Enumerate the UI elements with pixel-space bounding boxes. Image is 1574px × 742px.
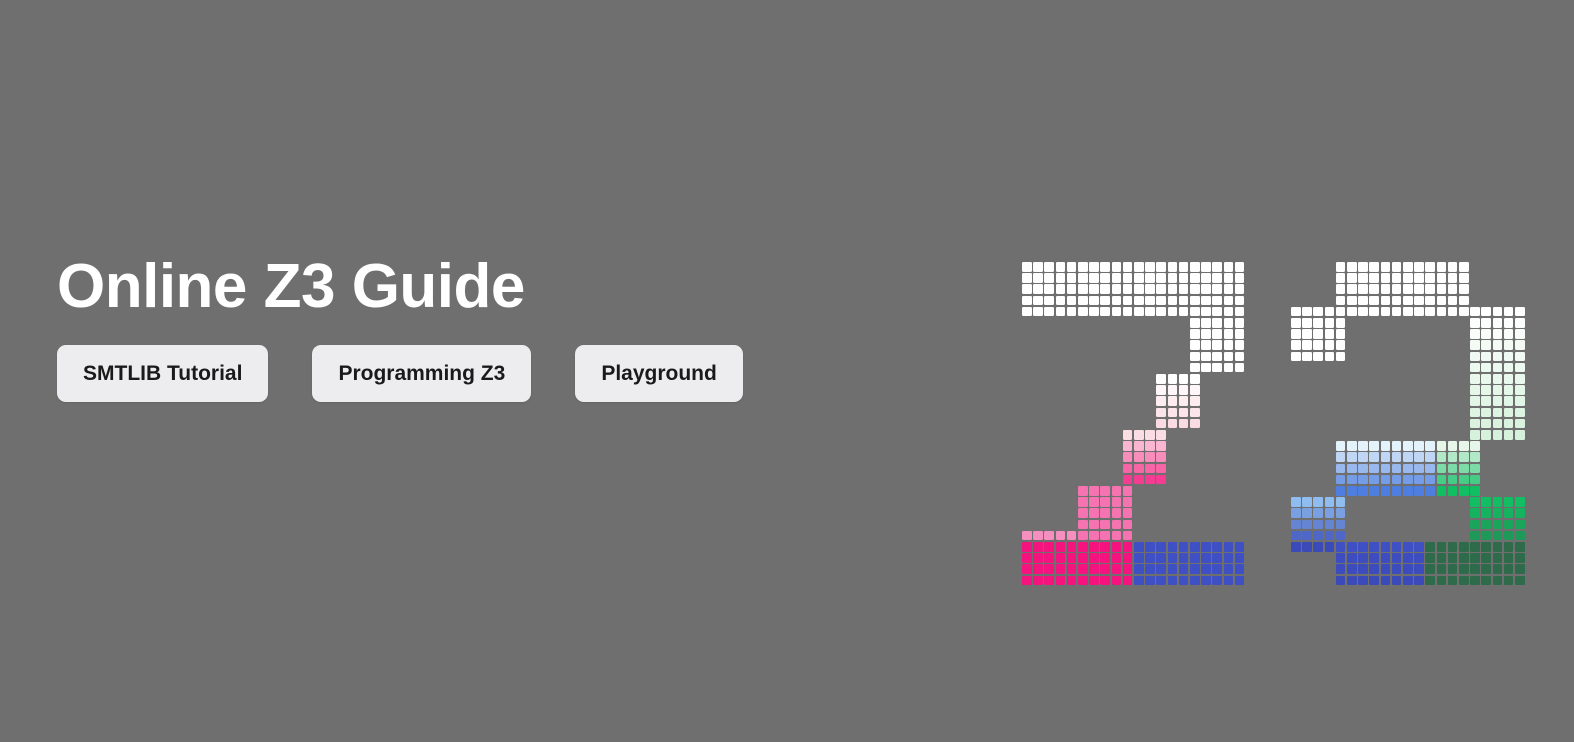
logo-pixel (1067, 307, 1077, 317)
logo-pixel (1481, 340, 1491, 350)
logo-pixel (1481, 542, 1491, 552)
logo-pixel (1201, 284, 1211, 294)
logo-pixel (1504, 542, 1514, 552)
logo-pixel (1201, 318, 1211, 328)
logo-pixel (1168, 307, 1178, 317)
logo-pixel (1089, 542, 1099, 552)
logo-pixel (1470, 452, 1480, 462)
logo-pixel (1056, 553, 1066, 563)
logo-pixel (1078, 497, 1088, 507)
logo-pixel (1022, 576, 1032, 586)
logo-pixel (1224, 262, 1234, 272)
logo-pixel (1470, 531, 1480, 541)
logo-pixel (1067, 262, 1077, 272)
programming-z3-button[interactable]: Programming Z3 (312, 345, 531, 402)
logo-pixel (1425, 296, 1435, 306)
logo-pixel (1145, 475, 1155, 485)
logo-pixel (1403, 475, 1413, 485)
logo-pixel (1033, 307, 1043, 317)
logo-pixel (1381, 441, 1391, 451)
logo-pixel (1212, 352, 1222, 362)
logo-pixel (1325, 497, 1335, 507)
logo-pixel (1190, 329, 1200, 339)
logo-pixel (1044, 262, 1054, 272)
smtlib-tutorial-button[interactable]: SMTLIB Tutorial (57, 345, 268, 402)
logo-pixel (1515, 430, 1525, 440)
logo-pixel (1089, 520, 1099, 530)
logo-pixel (1078, 520, 1088, 530)
logo-pixel (1123, 542, 1133, 552)
logo-pixel (1504, 520, 1514, 530)
logo-pixel (1392, 307, 1402, 317)
logo-pixel (1470, 363, 1480, 373)
logo-pixel (1190, 419, 1200, 429)
logo-pixel (1392, 273, 1402, 283)
logo-pixel (1470, 576, 1480, 586)
logo-pixel (1437, 542, 1447, 552)
logo-pixel (1414, 273, 1424, 283)
logo-pixel (1313, 329, 1323, 339)
logo-pixel (1493, 396, 1503, 406)
logo-pixel (1414, 284, 1424, 294)
logo-pixel (1134, 441, 1144, 451)
logo-pixel (1190, 576, 1200, 586)
logo-pixel (1313, 508, 1323, 518)
logo-pixel (1112, 284, 1122, 294)
logo-pixel (1100, 531, 1110, 541)
logo-pixel (1190, 340, 1200, 350)
logo-pixel (1481, 363, 1491, 373)
logo-pixel (1403, 262, 1413, 272)
logo-pixel (1515, 520, 1525, 530)
logo-pixel (1134, 475, 1144, 485)
logo-pixel (1358, 296, 1368, 306)
logo-pixel (1179, 576, 1189, 586)
logo-pixel (1179, 419, 1189, 429)
logo-pixel (1089, 497, 1099, 507)
logo-pixel (1347, 553, 1357, 563)
logo-pixel (1425, 284, 1435, 294)
logo-pixel (1470, 340, 1480, 350)
logo-pixel (1504, 396, 1514, 406)
logo-pixel (1201, 553, 1211, 563)
logo-pixel (1123, 307, 1133, 317)
logo-pixel (1291, 329, 1301, 339)
logo-pixel (1089, 564, 1099, 574)
logo-pixel (1459, 486, 1469, 496)
logo-pixel (1493, 564, 1503, 574)
logo-pixel (1504, 329, 1514, 339)
logo-pixel (1392, 296, 1402, 306)
logo-pixel (1336, 576, 1346, 586)
logo-pixel (1515, 352, 1525, 362)
logo-pixel (1448, 273, 1458, 283)
logo-pixel (1123, 262, 1133, 272)
logo-pixel (1201, 273, 1211, 283)
logo-pixel (1179, 408, 1189, 418)
logo-pixel (1089, 262, 1099, 272)
logo-pixel (1369, 542, 1379, 552)
logo-pixel (1459, 284, 1469, 294)
logo-pixel (1369, 486, 1379, 496)
logo-pixel (1425, 486, 1435, 496)
logo-pixel (1403, 441, 1413, 451)
logo-pixel (1168, 564, 1178, 574)
logo-pixel (1336, 273, 1346, 283)
logo-pixel (1145, 284, 1155, 294)
logo-pixel (1448, 284, 1458, 294)
logo-pixel (1470, 475, 1480, 485)
logo-pixel (1156, 430, 1166, 440)
logo-pixel (1291, 352, 1301, 362)
logo-pixel (1470, 419, 1480, 429)
logo-pixel (1369, 553, 1379, 563)
logo-pixel (1302, 329, 1312, 339)
logo-pixel (1313, 307, 1323, 317)
logo-pixel (1056, 576, 1066, 586)
logo-pixel (1100, 576, 1110, 586)
logo-pixel (1448, 452, 1458, 462)
logo-pixel (1437, 284, 1447, 294)
logo-pixel (1100, 273, 1110, 283)
logo-pixel (1493, 508, 1503, 518)
logo-pixel (1437, 262, 1447, 272)
logo-pixel (1425, 307, 1435, 317)
logo-pixel (1022, 564, 1032, 574)
logo-pixel (1078, 307, 1088, 317)
logo-pixel (1056, 262, 1066, 272)
logo-pixel (1414, 441, 1424, 451)
logo-pixel (1470, 396, 1480, 406)
logo-pixel (1504, 352, 1514, 362)
logo-pixel (1515, 408, 1525, 418)
logo-pixel (1044, 576, 1054, 586)
logo-pixel (1179, 284, 1189, 294)
logo-pixel (1369, 273, 1379, 283)
logo-pixel (1515, 363, 1525, 373)
logo-pixel (1190, 553, 1200, 563)
logo-pixel (1112, 508, 1122, 518)
logo-pixel (1403, 296, 1413, 306)
logo-pixel (1291, 542, 1301, 552)
logo-pixel (1201, 542, 1211, 552)
logo-pixel (1067, 531, 1077, 541)
logo-pixel (1481, 307, 1491, 317)
logo-pixel (1134, 307, 1144, 317)
logo-pixel (1156, 441, 1166, 451)
logo-pixel (1515, 374, 1525, 384)
logo-pixel (1515, 553, 1525, 563)
logo-pixel (1493, 318, 1503, 328)
logo-pixel (1325, 340, 1335, 350)
logo-pixel (1313, 542, 1323, 552)
logo-pixel (1358, 553, 1368, 563)
logo-pixel (1145, 576, 1155, 586)
logo-pixel (1336, 464, 1346, 474)
logo-pixel (1044, 307, 1054, 317)
logo-pixel (1403, 464, 1413, 474)
logo-pixel (1425, 273, 1435, 283)
logo-pixel (1179, 385, 1189, 395)
logo-pixel (1291, 497, 1301, 507)
logo-pixel (1481, 419, 1491, 429)
logo-pixel (1179, 307, 1189, 317)
logo-pixel (1067, 553, 1077, 563)
logo-pixel (1369, 284, 1379, 294)
logo-pixel (1190, 273, 1200, 283)
logo-pixel (1437, 273, 1447, 283)
logo-pixel (1235, 318, 1245, 328)
logo-pixel (1369, 475, 1379, 485)
logo-pixel (1056, 531, 1066, 541)
logo-pixel (1224, 273, 1234, 283)
logo-pixel (1033, 531, 1043, 541)
logo-pixel (1123, 553, 1133, 563)
logo-pixel (1291, 508, 1301, 518)
logo-pixel (1493, 419, 1503, 429)
logo-pixel (1504, 363, 1514, 373)
logo-pixel (1336, 475, 1346, 485)
logo-pixel (1347, 475, 1357, 485)
nav-button-row: SMTLIB Tutorial Programming Z3 Playgroun… (57, 345, 957, 402)
logo-pixel (1470, 318, 1480, 328)
logo-pixel (1100, 553, 1110, 563)
logo-pixel (1336, 441, 1346, 451)
logo-pixel (1336, 520, 1346, 530)
logo-pixel (1168, 296, 1178, 306)
logo-pixel (1403, 553, 1413, 563)
logo-pixel (1515, 531, 1525, 541)
logo-pixel (1504, 408, 1514, 418)
logo-pixel (1168, 374, 1178, 384)
logo-pixel (1470, 441, 1480, 451)
logo-pixel (1437, 564, 1447, 574)
logo-pixel (1190, 385, 1200, 395)
logo-pixel (1089, 553, 1099, 563)
logo-pixel (1481, 374, 1491, 384)
logo-pixel (1381, 452, 1391, 462)
logo-pixel (1190, 318, 1200, 328)
logo-pixel (1459, 464, 1469, 474)
logo-pixel (1123, 531, 1133, 541)
logo-pixel (1201, 576, 1211, 586)
logo-pixel (1481, 396, 1491, 406)
logo-pixel (1369, 262, 1379, 272)
logo-pixel (1212, 318, 1222, 328)
logo-pixel (1067, 564, 1077, 574)
logo-pixel (1481, 520, 1491, 530)
logo-pixel (1156, 374, 1166, 384)
logo-pixel (1392, 284, 1402, 294)
logo-pixel (1347, 284, 1357, 294)
logo-pixel (1481, 352, 1491, 362)
logo-pixel (1504, 340, 1514, 350)
logo-pixel (1067, 284, 1077, 294)
logo-pixel (1044, 542, 1054, 552)
logo-pixel (1156, 284, 1166, 294)
logo-pixel (1291, 340, 1301, 350)
logo-pixel (1336, 307, 1346, 317)
logo-pixel (1179, 273, 1189, 283)
logo-pixel (1325, 508, 1335, 518)
logo-pixel (1425, 464, 1435, 474)
logo-pixel (1089, 296, 1099, 306)
logo-pixel (1381, 542, 1391, 552)
logo-pixel (1515, 318, 1525, 328)
logo-pixel (1112, 531, 1122, 541)
logo-pixel (1347, 486, 1357, 496)
logo-pixel (1145, 441, 1155, 451)
logo-pixel (1313, 318, 1323, 328)
logo-pixel (1112, 520, 1122, 530)
logo-pixel (1022, 553, 1032, 563)
logo-pixel (1515, 329, 1525, 339)
logo-pixel (1313, 520, 1323, 530)
logo-pixel (1459, 307, 1469, 317)
logo-pixel (1089, 508, 1099, 518)
logo-pixel (1313, 352, 1323, 362)
logo-pixel (1201, 352, 1211, 362)
logo-pixel (1235, 576, 1245, 586)
logo-pixel (1448, 262, 1458, 272)
logo-pixel (1123, 564, 1133, 574)
logo-pixel (1235, 273, 1245, 283)
logo-pixel (1033, 273, 1043, 283)
logo-pixel (1369, 296, 1379, 306)
logo-pixel (1190, 363, 1200, 373)
logo-pixel (1224, 542, 1234, 552)
logo-pixel (1336, 508, 1346, 518)
logo-pixel (1123, 441, 1133, 451)
logo-pixel (1493, 497, 1503, 507)
logo-pixel (1156, 273, 1166, 283)
logo-pixel (1336, 553, 1346, 563)
page-title: Online Z3 Guide (57, 256, 957, 318)
logo-pixel (1358, 307, 1368, 317)
logo-pixel (1033, 564, 1043, 574)
logo-pixel (1112, 542, 1122, 552)
logo-pixel (1381, 486, 1391, 496)
logo-pixel (1235, 352, 1245, 362)
logo-pixel (1392, 564, 1402, 574)
logo-pixel (1078, 553, 1088, 563)
logo-pixel (1381, 553, 1391, 563)
logo-pixel (1481, 564, 1491, 574)
logo-pixel (1100, 508, 1110, 518)
logo-pixel (1156, 385, 1166, 395)
logo-pixel (1212, 576, 1222, 586)
logo-pixel (1369, 576, 1379, 586)
logo-pixel (1504, 576, 1514, 586)
logo-pixel (1392, 441, 1402, 451)
logo-pixel (1156, 419, 1166, 429)
logo-pixel (1504, 564, 1514, 574)
logo-pixel (1302, 318, 1312, 328)
logo-pixel (1336, 329, 1346, 339)
logo-pixel (1381, 564, 1391, 574)
logo-pixel (1100, 564, 1110, 574)
logo-pixel (1145, 296, 1155, 306)
logo-pixel (1145, 430, 1155, 440)
logo-pixel (1403, 284, 1413, 294)
logo-pixel (1190, 542, 1200, 552)
logo-pixel (1470, 564, 1480, 574)
logo-pixel (1235, 296, 1245, 306)
logo-pixel (1470, 385, 1480, 395)
logo-pixel (1156, 542, 1166, 552)
logo-pixel (1347, 307, 1357, 317)
logo-pixel (1358, 441, 1368, 451)
logo-pixel (1033, 542, 1043, 552)
logo-pixel (1336, 564, 1346, 574)
logo-pixel (1369, 452, 1379, 462)
logo-pixel (1179, 396, 1189, 406)
logo-pixel (1403, 486, 1413, 496)
logo-pixel (1156, 396, 1166, 406)
logo-pixel (1123, 430, 1133, 440)
logo-pixel (1235, 340, 1245, 350)
logo-pixel (1515, 497, 1525, 507)
logo-pixel (1156, 262, 1166, 272)
logo-pixel (1448, 441, 1458, 451)
logo-pixel (1056, 284, 1066, 294)
logo-pixel (1212, 553, 1222, 563)
logo-pixel (1437, 296, 1447, 306)
logo-pixel (1145, 542, 1155, 552)
logo-pixel (1358, 576, 1368, 586)
logo-pixel (1156, 553, 1166, 563)
logo-pixel (1403, 307, 1413, 317)
logo-pixel (1504, 318, 1514, 328)
logo-pixel (1437, 464, 1447, 474)
logo-pixel (1168, 542, 1178, 552)
logo-pixel (1134, 262, 1144, 272)
logo-pixel (1470, 408, 1480, 418)
logo-pixel (1112, 576, 1122, 586)
logo-pixel (1358, 564, 1368, 574)
hero-section: Online Z3 Guide SMTLIB Tutorial Programm… (57, 256, 957, 402)
logo-pixel (1078, 296, 1088, 306)
logo-pixel (1235, 553, 1245, 563)
logo-pixel (1134, 296, 1144, 306)
logo-pixel (1481, 430, 1491, 440)
logo-pixel (1201, 329, 1211, 339)
logo-pixel (1179, 262, 1189, 272)
logo-pixel (1325, 318, 1335, 328)
logo-pixel (1100, 520, 1110, 530)
logo-pixel (1347, 542, 1357, 552)
playground-button[interactable]: Playground (575, 345, 743, 402)
logo-pixel (1067, 576, 1077, 586)
logo-pixel (1156, 464, 1166, 474)
logo-pixel (1033, 576, 1043, 586)
logo-pixel (1179, 553, 1189, 563)
logo-pixel (1414, 296, 1424, 306)
logo-pixel (1168, 284, 1178, 294)
logo-pixel (1515, 542, 1525, 552)
logo-pixel (1414, 452, 1424, 462)
logo-pixel (1156, 307, 1166, 317)
logo-pixel (1448, 576, 1458, 586)
logo-pixel (1403, 576, 1413, 586)
logo-pixel (1493, 307, 1503, 317)
logo-pixel (1470, 374, 1480, 384)
logo-pixel (1168, 273, 1178, 283)
logo-pixel (1392, 475, 1402, 485)
logo-pixel (1381, 464, 1391, 474)
logo-pixel (1425, 576, 1435, 586)
logo-pixel (1089, 307, 1099, 317)
